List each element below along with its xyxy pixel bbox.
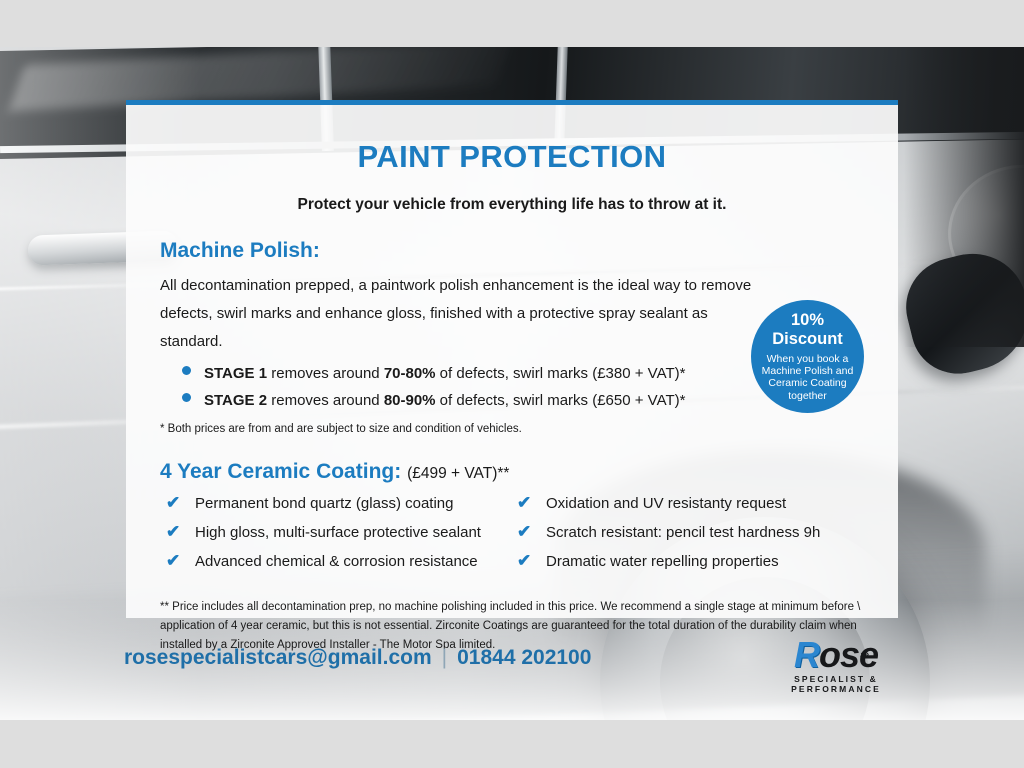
logo-speed-marks-icon: »» [860,650,868,659]
stage-name: STAGE 2 [204,392,267,409]
logo-tagline: SPECIALIST & PERFORMANCE [762,674,910,694]
ceramic-coating-heading-text: 4 Year Ceramic Coating: [160,460,401,483]
list-item: ✔ Scratch resistant: pencil test hardnes… [517,523,868,541]
check-icon: ✔ [517,523,535,540]
feature-label: Dramatic water repelling properties [546,553,779,570]
list-item: ✔ High gloss, multi-surface protective s… [166,523,517,541]
check-icon: ✔ [517,552,535,569]
list-item: ✔ Advanced chemical & corrosion resistan… [166,552,517,570]
machine-polish-description: All decontamination prepped, a paintwork… [160,272,760,356]
ceramic-coating-heading: 4 Year Ceramic Coating: (£499 + VAT)** [160,460,868,484]
feature-label: High gloss, multi-surface protective sea… [195,524,481,541]
contact-phone[interactable]: 01844 202100 [457,646,591,670]
page-subtitle: Protect your vehicle from everything lif… [156,196,868,214]
list-item: ✔ Oxidation and UV resistanty request [517,494,868,512]
contact-separator: | [442,646,447,670]
check-icon: ✔ [166,552,184,569]
check-icon: ✔ [166,523,184,540]
feature-label: Advanced chemical & corrosion resistance [195,553,478,570]
stage-text-after: of defects, swirl marks (£380 + VAT)* [436,365,686,382]
machine-polish-heading: Machine Polish: [160,239,868,263]
bullet-dot-icon [182,393,191,402]
letterbox-top [0,0,1024,47]
stage-text-after: of defects, swirl marks (£650 + VAT)* [436,392,686,409]
list-item: ✔ Permanent bond quartz (glass) coating [166,494,517,512]
machine-polish-heading-text: Machine Polish: [160,239,320,262]
ceramic-coating-price: (£499 + VAT)** [407,465,509,482]
machine-polish-footnote: * Both prices are from and are subject t… [160,423,868,435]
discount-condition: When you book a Machine Polish and Ceram… [751,353,864,403]
ceramic-feature-lists: ✔ Permanent bond quartz (glass) coating … [166,494,868,581]
logo-letter-r: R [794,634,819,675]
stage-name: STAGE 1 [204,365,267,382]
check-icon: ✔ [517,494,535,511]
photo-right-vignette [904,47,1024,347]
bullet-dot-icon [182,366,191,375]
stage-text-before: removes around [267,365,384,382]
check-icon: ✔ [166,494,184,511]
logo-wordmark: Rose»» [794,638,878,672]
stage-percent: 70-80% [384,365,436,382]
discount-badge: 10% Discount When you book a Machine Pol… [751,300,864,413]
ceramic-features-left: ✔ Permanent bond quartz (glass) coating … [166,494,517,581]
letterbox-bottom [0,720,1024,768]
feature-label: Permanent bond quartz (glass) coating [195,495,453,512]
discount-word: Discount [772,330,843,349]
list-item: ✔ Dramatic water repelling properties [517,552,868,570]
discount-percent: 10% [791,311,824,330]
ceramic-features-right: ✔ Oxidation and UV resistanty request ✔ … [517,494,868,581]
rose-logo: Rose»» SPECIALIST & PERFORMANCE [762,638,910,694]
stage-line: STAGE 1 removes around 70-80% of defects… [204,365,685,382]
feature-label: Oxidation and UV resistanty request [546,495,786,512]
stage-text-before: removes around [267,392,384,409]
contact-email[interactable]: rosespecialistcars@gmail.com [124,646,432,670]
page-title: PAINT PROTECTION [156,139,868,175]
stage-line: STAGE 2 removes around 80-90% of defects… [204,392,685,409]
logo-letters-ose: ose [819,634,878,675]
stage-percent: 80-90% [384,392,436,409]
contact-details: rosespecialistcars@gmail.com | 01844 202… [124,646,591,670]
feature-label: Scratch resistant: pencil test hardness … [546,524,820,541]
flyer-canvas: PAINT PROTECTION Protect your vehicle fr… [0,0,1024,768]
